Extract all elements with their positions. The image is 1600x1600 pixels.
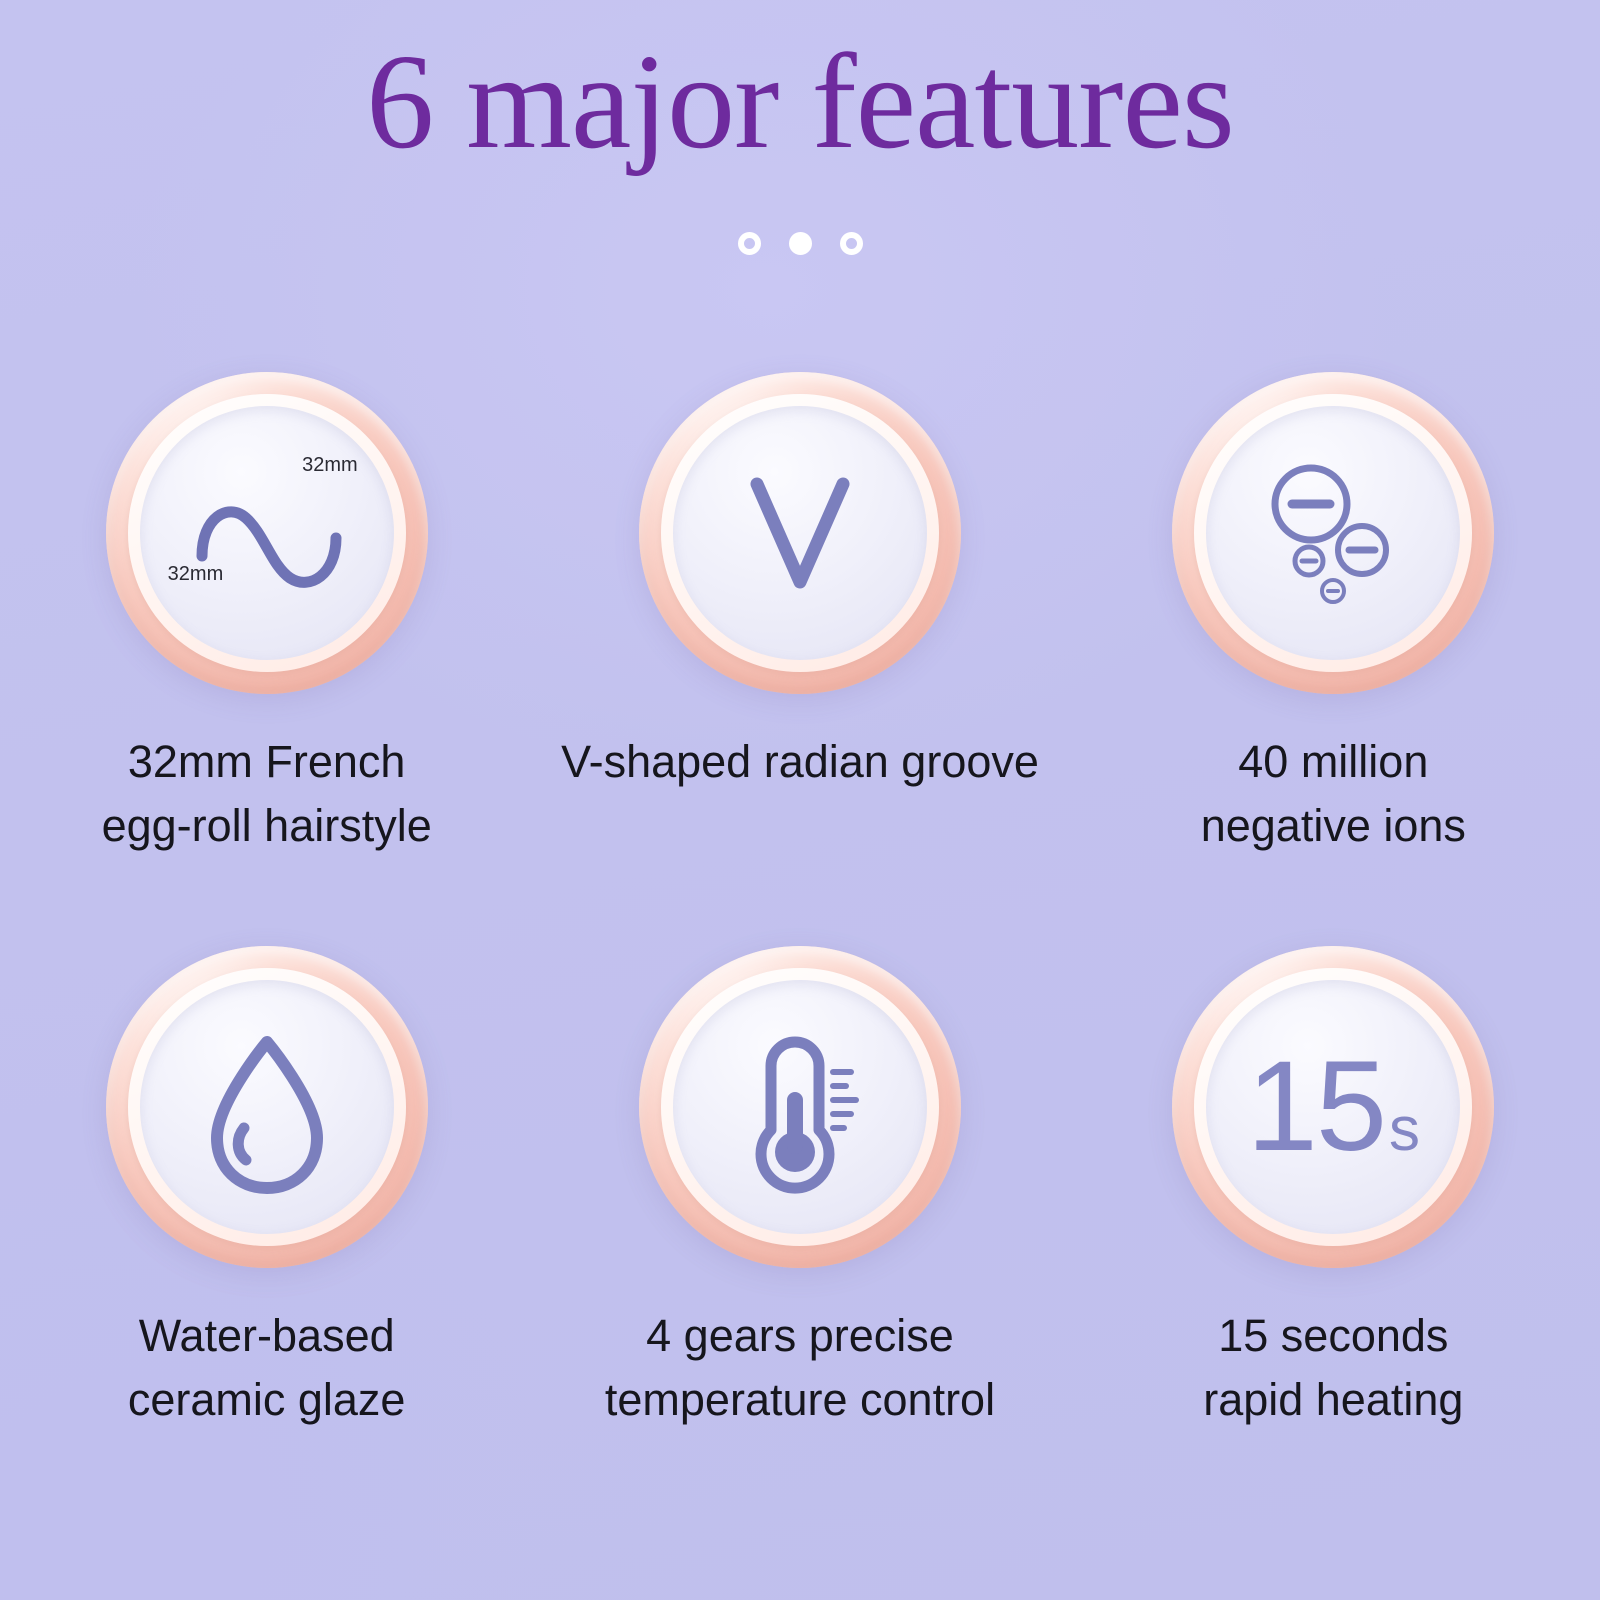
feature-caption: Water-based ceramic glaze — [128, 1304, 406, 1432]
badge-inner-disc — [140, 980, 394, 1234]
feature-caption: 15 seconds rapid heating — [1203, 1304, 1463, 1432]
v-groove-icon — [673, 406, 927, 660]
badge-inner-disc — [1206, 406, 1460, 660]
feature-item-v-groove[interactable]: V-shaped radian groove — [533, 372, 1066, 858]
page-title: 6 major features — [0, 34, 1600, 170]
feature-item-rapid-heating[interactable]: 15 s 15 seconds rapid heating — [1067, 946, 1600, 1432]
badge-unit: s — [1389, 1099, 1420, 1161]
feature-caption: 32mm French egg-roll hairstyle — [102, 730, 432, 858]
feature-badge — [639, 372, 961, 694]
badge-inner-disc: 32mm 32mm — [140, 406, 394, 660]
feature-item-temperature-control[interactable]: 4 gears precise temperature control — [533, 946, 1066, 1432]
feature-caption: 4 gears precise temperature control — [605, 1304, 995, 1432]
measure-label-top: 32mm — [302, 454, 358, 477]
feature-badge: 15 s — [1172, 946, 1494, 1268]
negative-ions-icon — [1206, 406, 1460, 660]
thermometer-icon — [673, 980, 927, 1234]
carousel-dot-3[interactable] — [840, 232, 863, 255]
measure-label-bottom: 32mm — [168, 563, 224, 586]
carousel-indicator — [0, 228, 1600, 258]
badge-inner-disc — [673, 980, 927, 1234]
water-droplet-icon — [140, 980, 394, 1234]
fifteen-seconds-icon: 15 s — [1247, 1043, 1420, 1171]
carousel-dot-2-active[interactable] — [789, 232, 812, 255]
badge-number: 15 — [1247, 1043, 1385, 1171]
feature-badge — [1172, 372, 1494, 694]
feature-grid: 32mm 32mm 32mm French egg-roll hairstyle… — [0, 372, 1600, 1432]
s-curve-32mm-icon — [140, 406, 394, 660]
feature-badge: 32mm 32mm — [106, 372, 428, 694]
feature-badge — [639, 946, 961, 1268]
header: 6 major features — [0, 0, 1600, 170]
feature-caption: V-shaped radian groove — [561, 730, 1039, 794]
carousel-dot-1[interactable] — [738, 232, 761, 255]
feature-item-32mm-french[interactable]: 32mm 32mm 32mm French egg-roll hairstyle — [0, 372, 533, 858]
feature-item-water-based-glaze[interactable]: Water-based ceramic glaze — [0, 946, 533, 1432]
badge-inner-disc — [673, 406, 927, 660]
feature-badge — [106, 946, 428, 1268]
feature-item-negative-ions[interactable]: 40 million negative ions — [1067, 372, 1600, 858]
badge-inner-disc: 15 s — [1206, 980, 1460, 1234]
feature-caption: 40 million negative ions — [1201, 730, 1466, 858]
